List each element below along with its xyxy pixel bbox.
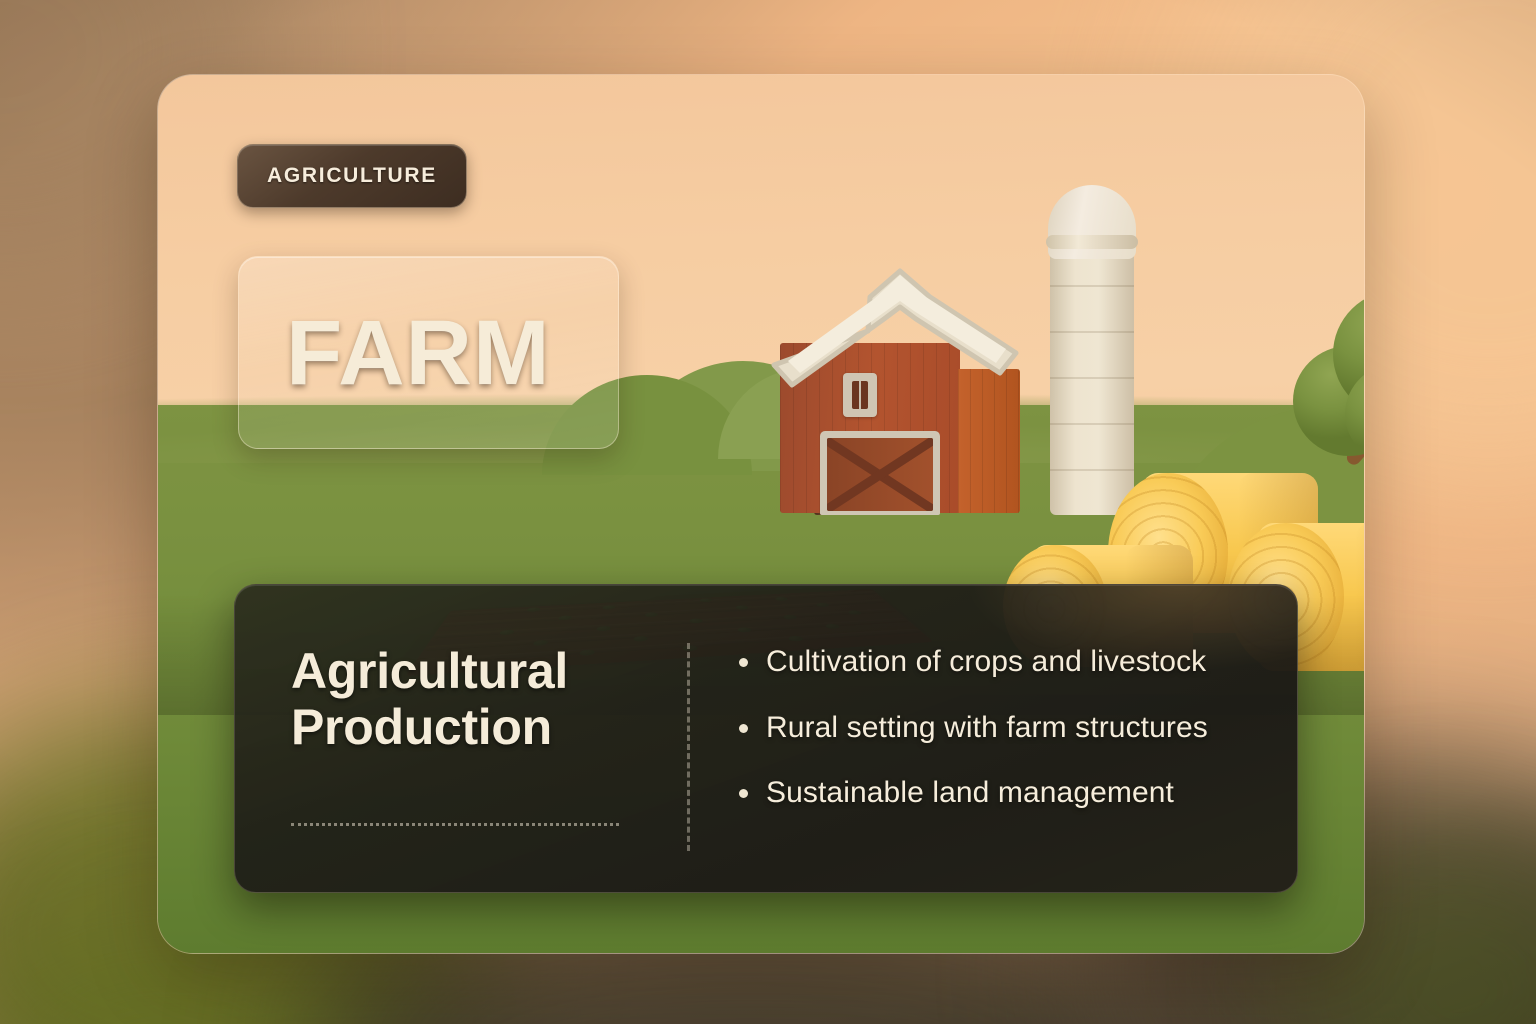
info-heading: Agricultural Production bbox=[291, 643, 665, 755]
list-item-label: Sustainable land management bbox=[766, 776, 1174, 810]
glass-card: AGRICULTURE FARM Agricultural Production… bbox=[157, 74, 1365, 954]
farm-silo bbox=[1038, 175, 1146, 515]
hero-title-panel: FARM bbox=[238, 256, 619, 449]
category-badge-label: AGRICULTURE bbox=[267, 164, 437, 188]
silo-ring bbox=[1046, 235, 1138, 249]
barn-roof bbox=[748, 235, 1048, 395]
list-item: Sustainable land management bbox=[739, 776, 1297, 810]
red-barn bbox=[748, 225, 1048, 525]
info-panel: Agricultural Production Cultivation of c… bbox=[234, 584, 1298, 893]
info-bullet-column: Cultivation of crops and livestock Rural… bbox=[665, 585, 1297, 892]
list-item: Rural setting with farm structures bbox=[739, 711, 1297, 745]
bullet-dot-icon bbox=[739, 789, 748, 798]
list-item-label: Rural setting with farm structures bbox=[766, 711, 1208, 745]
bullet-dot-icon bbox=[739, 724, 748, 733]
bullet-dot-icon bbox=[739, 658, 748, 667]
list-item-label: Cultivation of crops and livestock bbox=[766, 645, 1206, 679]
barn-hayloft-window bbox=[843, 373, 877, 417]
vertical-dashed-divider bbox=[687, 643, 690, 851]
barn-door bbox=[820, 431, 940, 515]
category-badge[interactable]: AGRICULTURE bbox=[237, 144, 467, 208]
list-item: Cultivation of crops and livestock bbox=[739, 645, 1297, 679]
page-title: FARM bbox=[286, 307, 551, 399]
info-heading-column: Agricultural Production bbox=[235, 585, 665, 892]
heading-dotted-rule bbox=[291, 823, 619, 826]
